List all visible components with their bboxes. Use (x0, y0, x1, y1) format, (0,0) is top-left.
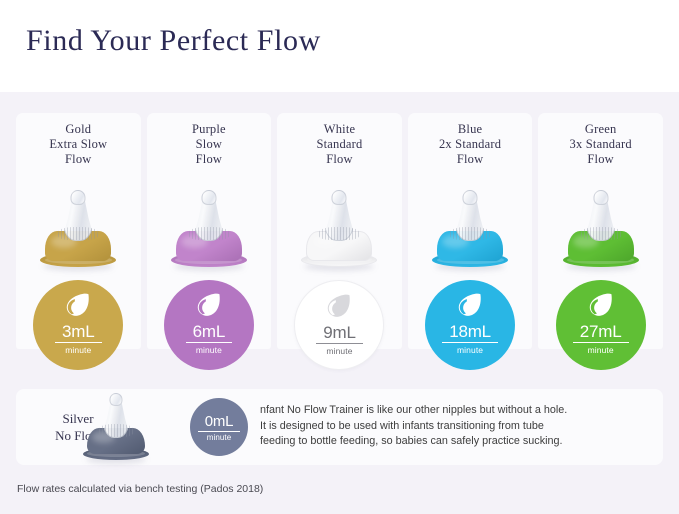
droplet-icon (588, 293, 614, 320)
flow-column-purple[interactable]: Purple Slow Flow6mLminute (147, 113, 272, 349)
nipple-image-blue (428, 185, 512, 271)
droplet-icon (326, 294, 352, 321)
flow-rate-unit: minute (457, 343, 483, 356)
flow-column-title: White Standard Flow (277, 122, 402, 167)
nipple-teat-ridges (99, 424, 133, 437)
droplet-icon (196, 293, 222, 320)
no-flow-panel: Silver No Flow 0mL minute nfant No Flow … (16, 389, 663, 465)
nipple-teat-ridges (189, 227, 229, 240)
nipple-image-gold (36, 185, 120, 271)
nipple-teat-ridges (450, 227, 490, 240)
droplet-icon-wrap (65, 293, 91, 320)
droplet-icon-wrap (326, 294, 352, 321)
flow-column-white[interactable]: White Standard Flow9mLminute (277, 113, 402, 349)
flow-rate-value: 3mL (55, 322, 101, 343)
flow-rate-group: 18mLminute (442, 322, 498, 356)
infographic-page: Find Your Perfect Flow Gold Extra Slow F… (0, 0, 679, 514)
flow-columns-row: Gold Extra Slow Flow3mLminutePurple Slow… (16, 113, 663, 349)
flow-rate-group: 6mLminute (186, 322, 232, 356)
flow-rate-badge-green: 27mLminute (556, 280, 646, 370)
flow-rate-group: 0mL minute (198, 413, 241, 444)
nipple-teat-tip (593, 190, 608, 205)
flow-rate-group: 27mLminute (573, 322, 629, 356)
flow-rate-value: 27mL (573, 322, 629, 343)
flow-rate-badge-blue: 18mLminute (425, 280, 515, 370)
flow-rate-value: 0mL (198, 413, 241, 432)
flow-rate-unit: minute (196, 343, 222, 356)
flow-column-title: Gold Extra Slow Flow (16, 122, 141, 167)
nipple-image-purple (167, 185, 251, 271)
flow-rate-badge-purple: 6mLminute (164, 280, 254, 370)
nipple-teat-tip (332, 190, 347, 205)
droplet-icon (457, 293, 483, 320)
flow-rate-badge-silver: 0mL minute (190, 398, 248, 456)
nipple-teat-tip (463, 190, 478, 205)
nipple-teat-ridges (58, 227, 98, 240)
flow-rate-group: 3mLminute (55, 322, 101, 356)
flow-rate-unit: minute (207, 432, 232, 444)
nipple-teat-ridges (581, 227, 621, 240)
flow-rate-unit: minute (588, 343, 614, 356)
nipple-teat-tip (110, 393, 123, 406)
flow-column-gold[interactable]: Gold Extra Slow Flow3mLminute (16, 113, 141, 349)
footnote: Flow rates calculated via bench testing … (17, 483, 263, 495)
flow-column-green[interactable]: Green 3x Standard Flow27mLminute (538, 113, 663, 349)
flow-rate-group: 9mLminute (316, 323, 362, 357)
flow-rate-value: 18mL (442, 322, 498, 343)
flow-column-title: Green 3x Standard Flow (538, 122, 663, 167)
header-band: Find Your Perfect Flow (0, 0, 679, 92)
nipple-teat-tip (71, 190, 86, 205)
nipple-image-green (559, 185, 643, 271)
flow-rate-badge-white: 9mLminute (294, 280, 384, 370)
flow-column-title: Purple Slow Flow (147, 122, 272, 167)
flow-rate-value: 6mL (186, 322, 232, 343)
nipple-teat-ridges (319, 227, 359, 240)
flow-rate-unit: minute (326, 344, 352, 357)
nipple-image-silver (79, 390, 153, 464)
droplet-icon-wrap (457, 293, 483, 320)
droplet-icon-wrap (196, 293, 222, 320)
flow-rate-badge-gold: 3mLminute (33, 280, 123, 370)
flow-column-title: Blue 2x Standard Flow (408, 122, 533, 167)
droplet-icon-wrap (588, 293, 614, 320)
no-flow-description: nfant No Flow Trainer is like our other … (260, 403, 650, 450)
droplet-icon (65, 293, 91, 320)
nipple-image-white (297, 185, 381, 271)
flow-rate-unit: minute (65, 343, 91, 356)
nipple-teat-tip (201, 190, 216, 205)
flow-rate-value: 9mL (316, 323, 362, 344)
flow-column-blue[interactable]: Blue 2x Standard Flow18mLminute (408, 113, 533, 349)
page-title: Find Your Perfect Flow (26, 24, 321, 58)
